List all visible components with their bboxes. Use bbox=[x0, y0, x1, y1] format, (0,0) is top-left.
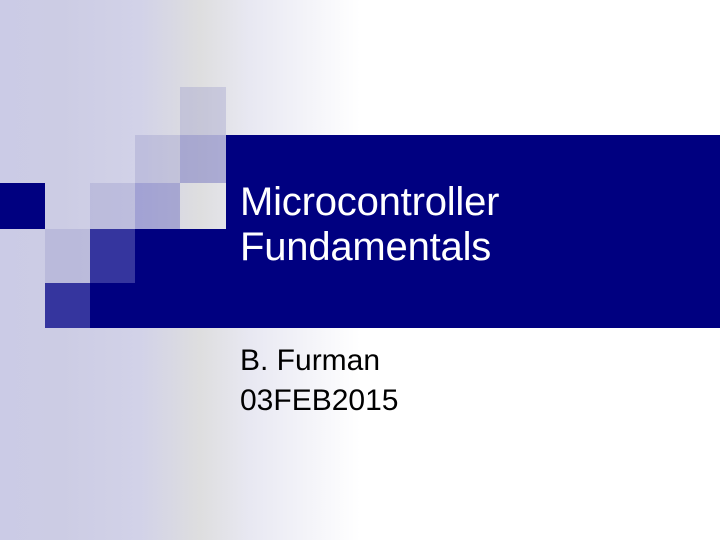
slide-title: Microcontroller Fundamentals bbox=[240, 180, 710, 270]
slide-subtitle: B. Furman 03FEB2015 bbox=[240, 341, 700, 421]
decorative-square-h bbox=[45, 283, 90, 328]
decorative-square-c bbox=[180, 135, 226, 183]
slide-title-line-2: Fundamentals bbox=[240, 225, 710, 270]
accent-square-navy bbox=[0, 183, 45, 229]
title-slide: Microcontroller Fundamentals B. Furman 0… bbox=[0, 0, 720, 540]
slide-title-line-1: Microcontroller bbox=[240, 180, 710, 225]
decorative-square-e bbox=[135, 183, 180, 229]
decorative-square-f bbox=[45, 229, 90, 283]
slide-subtitle-date: 03FEB2015 bbox=[240, 381, 700, 421]
decorative-square-d bbox=[90, 183, 135, 229]
slide-subtitle-author: B. Furman bbox=[240, 341, 700, 381]
decorative-square-b bbox=[135, 135, 180, 183]
decorative-square-a bbox=[180, 87, 226, 135]
decorative-square-g bbox=[90, 229, 135, 283]
